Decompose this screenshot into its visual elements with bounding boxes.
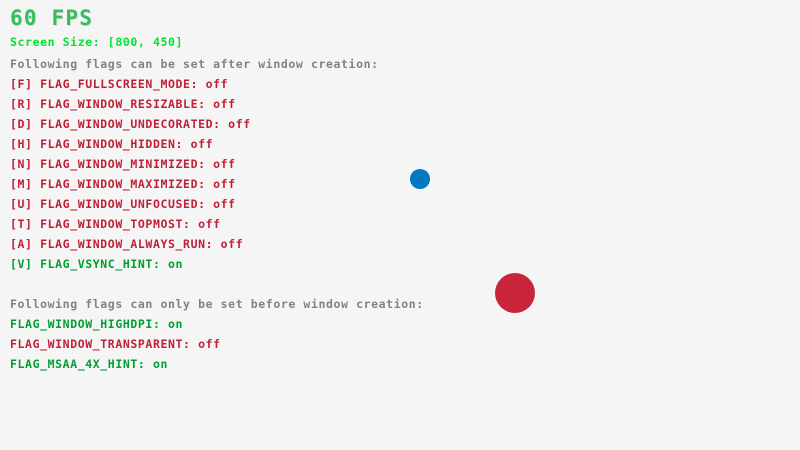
fps-counter: 60 FPS — [10, 8, 93, 29]
screen-size-label: Screen Size: [800, 450] — [10, 37, 183, 49]
section-header-before-creation: Following flags can only be set before w… — [10, 299, 424, 311]
red-ball-shape — [495, 273, 535, 313]
flag-line-flag-window-hidden[interactable]: [H] FLAG_WINDOW_HIDDEN: off — [10, 139, 213, 151]
flag-line-flag-window-topmost[interactable]: [T] FLAG_WINDOW_TOPMOST: off — [10, 219, 221, 231]
flag-line-flag-fullscreen-mode[interactable]: [F] FLAG_FULLSCREEN_MODE: off — [10, 79, 228, 91]
flag-line-flag-window-unfocused[interactable]: [U] FLAG_WINDOW_UNFOCUSED: off — [10, 199, 236, 211]
flag-line-flag-msaa-4x-hint[interactable]: FLAG_MSAA_4X_HINT: on — [10, 359, 168, 371]
flag-line-flag-window-always-run[interactable]: [A] FLAG_WINDOW_ALWAYS_RUN: off — [10, 239, 243, 251]
flag-line-flag-window-highdpi[interactable]: FLAG_WINDOW_HIGHDPI: on — [10, 319, 183, 331]
flag-line-flag-window-minimized[interactable]: [N] FLAG_WINDOW_MINIMIZED: off — [10, 159, 236, 171]
blue-ball-shape — [410, 169, 430, 189]
flag-line-flag-vsync-hint[interactable]: [V] FLAG_VSYNC_HINT: on — [10, 259, 183, 271]
flag-line-flag-window-maximized[interactable]: [M] FLAG_WINDOW_MAXIMIZED: off — [10, 179, 236, 191]
flag-line-flag-window-undecorated[interactable]: [D] FLAG_WINDOW_UNDECORATED: off — [10, 119, 251, 131]
app-canvas[interactable]: 60 FPS Screen Size: [800, 450] Following… — [0, 0, 800, 450]
flag-line-flag-window-resizable[interactable]: [R] FLAG_WINDOW_RESIZABLE: off — [10, 99, 236, 111]
section-header-after-creation: Following flags can be set after window … — [10, 59, 379, 71]
flag-line-flag-window-transparent[interactable]: FLAG_WINDOW_TRANSPARENT: off — [10, 339, 221, 351]
